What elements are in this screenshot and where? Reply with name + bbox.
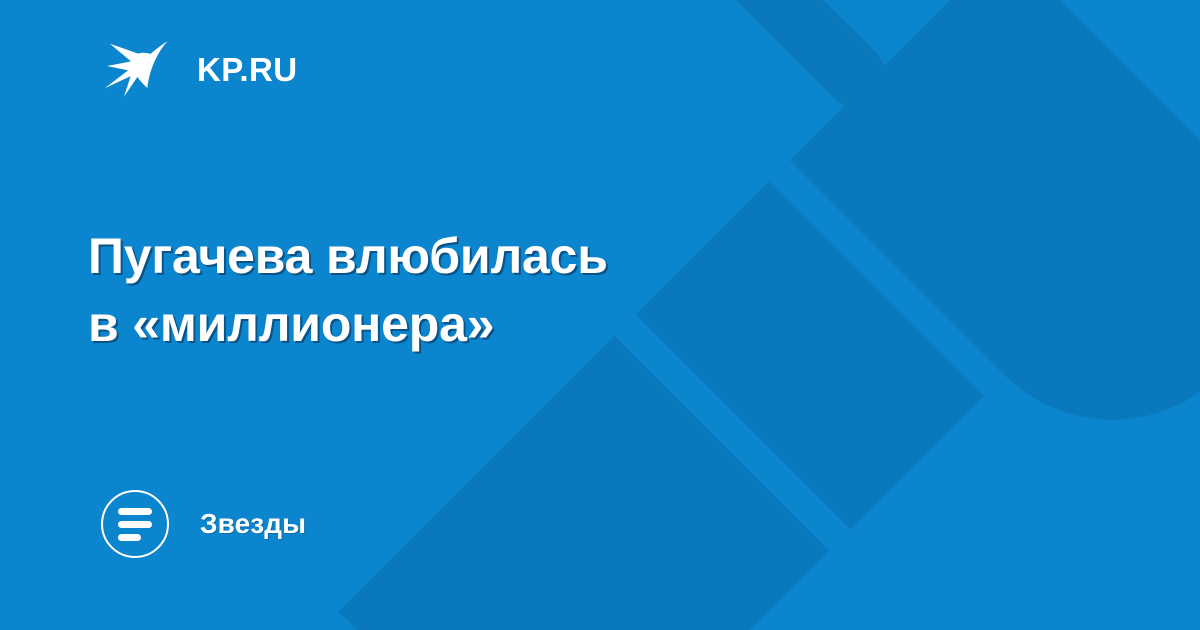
brand-name-text: KP.RU [197, 53, 297, 86]
pencil-clip [643, 0, 899, 119]
pencil-eraser-cap [790, 0, 1200, 483]
rubric-label: Звезды [200, 510, 306, 538]
hamburger-menu-icon[interactable] [101, 490, 169, 558]
social-share-card: KP.RU Пугачева влюбилась в «миллионера» … [0, 0, 1200, 630]
hamburger-bar-top [118, 508, 152, 515]
brand-logo[interactable]: KP.RU [104, 38, 297, 100]
pencil-body [339, 336, 830, 630]
hamburger-bar-bottom [118, 534, 141, 541]
headline-line-1: Пугачева влюбилась [88, 222, 748, 290]
rubric[interactable]: Звезды [101, 489, 306, 559]
page-title: Пугачева влюбилась в «миллионера» [88, 222, 748, 358]
hamburger-bar-middle [118, 521, 152, 528]
swallow-bird-icon [104, 39, 172, 99]
headline-line-2: в «миллионера» [88, 290, 748, 358]
